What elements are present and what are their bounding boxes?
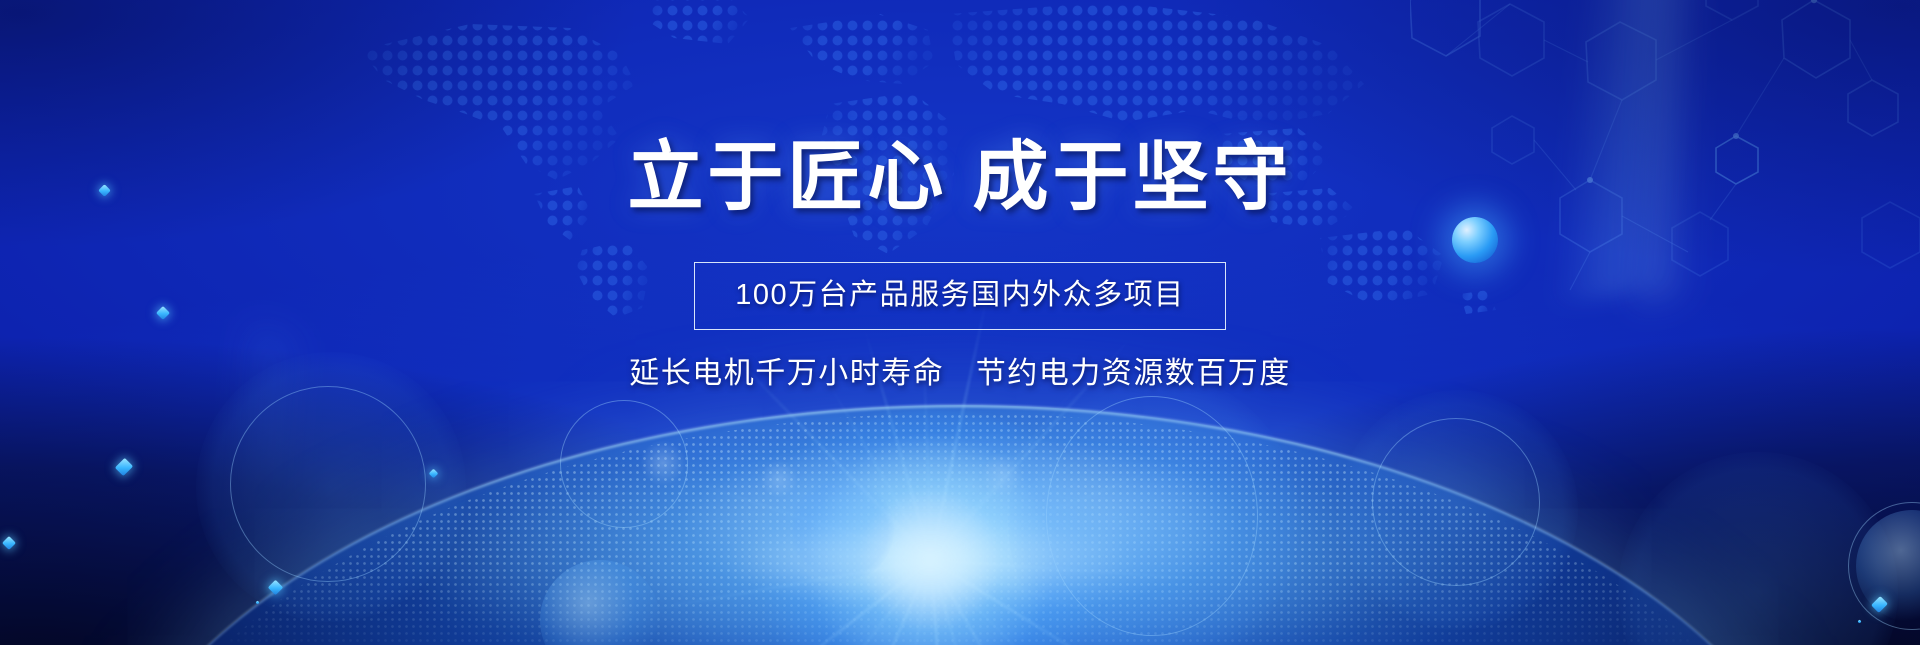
tagline: 延长电机千万小时寿命 节约电力资源数百万度: [0, 330, 1920, 393]
boxed-subtitle: 100万台产品服务国内外众多项目: [694, 262, 1225, 330]
page-title: 立于匠心 成于坚守: [0, 0, 1920, 216]
banner-content: 立于匠心 成于坚守 100万台产品服务国内外众多项目 延长电机千万小时寿命 节约…: [0, 0, 1920, 393]
hero-banner: 立于匠心 成于坚守 100万台产品服务国内外众多项目 延长电机千万小时寿命 节约…: [0, 0, 1920, 645]
radial-light-burst: [930, 560, 932, 562]
